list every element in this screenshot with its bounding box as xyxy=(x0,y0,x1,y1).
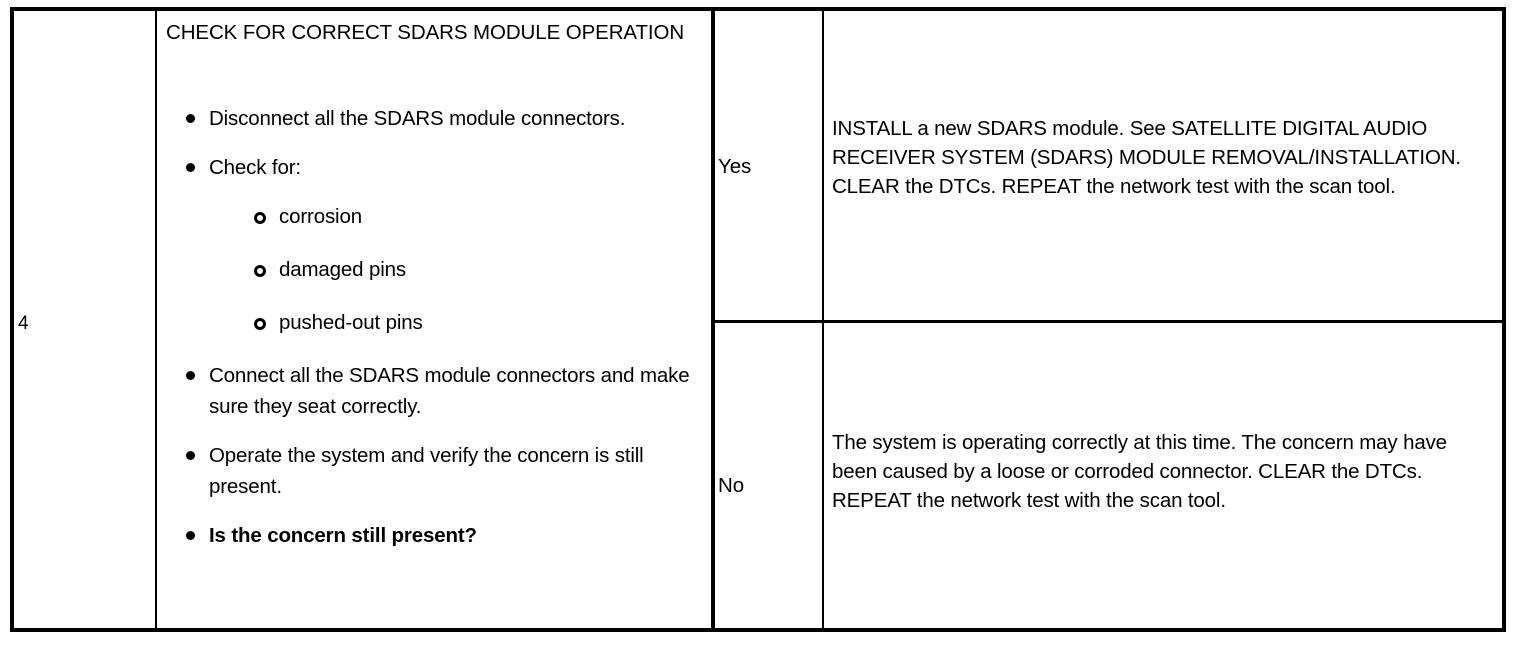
diagnostic-step-table: 4 CHECK FOR CORRECT SDARS MODULE OPERATI… xyxy=(10,7,1506,632)
list-item: corrosion xyxy=(166,201,706,232)
filled-bullet-icon xyxy=(186,163,195,172)
list-item-label: Operate the system and verify the concer… xyxy=(209,444,644,498)
step-number-cell: 4 xyxy=(14,11,155,628)
list-item-label: pushed-out pins xyxy=(279,311,423,334)
list-item: Check for: xyxy=(166,152,706,183)
filled-bullet-icon xyxy=(186,114,195,123)
list-item: damaged pins xyxy=(166,254,706,285)
filled-bullet-icon xyxy=(186,531,195,540)
result-label-no: No xyxy=(718,475,744,497)
list-item: Operate the system and verify the concer… xyxy=(166,440,706,502)
list-item-label: damaged pins xyxy=(279,258,406,281)
result-label-yes: Yes xyxy=(718,156,751,178)
list-item: pushed-out pins xyxy=(166,307,706,338)
list-item: Disconnect all the SDARS module connecto… xyxy=(166,103,706,134)
list-item-label: Disconnect all the SDARS module connecto… xyxy=(209,107,625,130)
action-title: CHECK FOR CORRECT SDARS MODULE OPERATION xyxy=(166,19,696,47)
list-item-label: Is the concern still present? xyxy=(209,524,477,547)
list-item: Is the concern still present? xyxy=(166,520,706,551)
list-item-label: Connect all the SDARS module connectors … xyxy=(209,364,690,418)
list-item-label: Check for: xyxy=(209,156,301,179)
instruction-text-no: The system is operating correctly at thi… xyxy=(824,428,1502,515)
step-number: 4 xyxy=(18,314,29,333)
action-cell: CHECK FOR CORRECT SDARS MODULE OPERATION… xyxy=(157,11,711,628)
hollow-bullet-icon xyxy=(254,212,266,224)
list-item-label: corrosion xyxy=(279,205,362,228)
hollow-bullet-icon xyxy=(254,318,266,330)
instruction-text-yes: INSTALL a new SDARS module. See SATELLIT… xyxy=(824,114,1502,201)
action-subbullet-list: corrosion damaged pins pushed-out pins xyxy=(166,201,706,338)
list-item: Connect all the SDARS module connectors … xyxy=(166,360,706,422)
row-divider-yes-no xyxy=(711,320,1502,323)
hollow-bullet-icon xyxy=(254,265,266,277)
filled-bullet-icon xyxy=(186,371,195,380)
action-bullet-list: Disconnect all the SDARS module connecto… xyxy=(166,103,706,569)
filled-bullet-icon xyxy=(186,451,195,460)
